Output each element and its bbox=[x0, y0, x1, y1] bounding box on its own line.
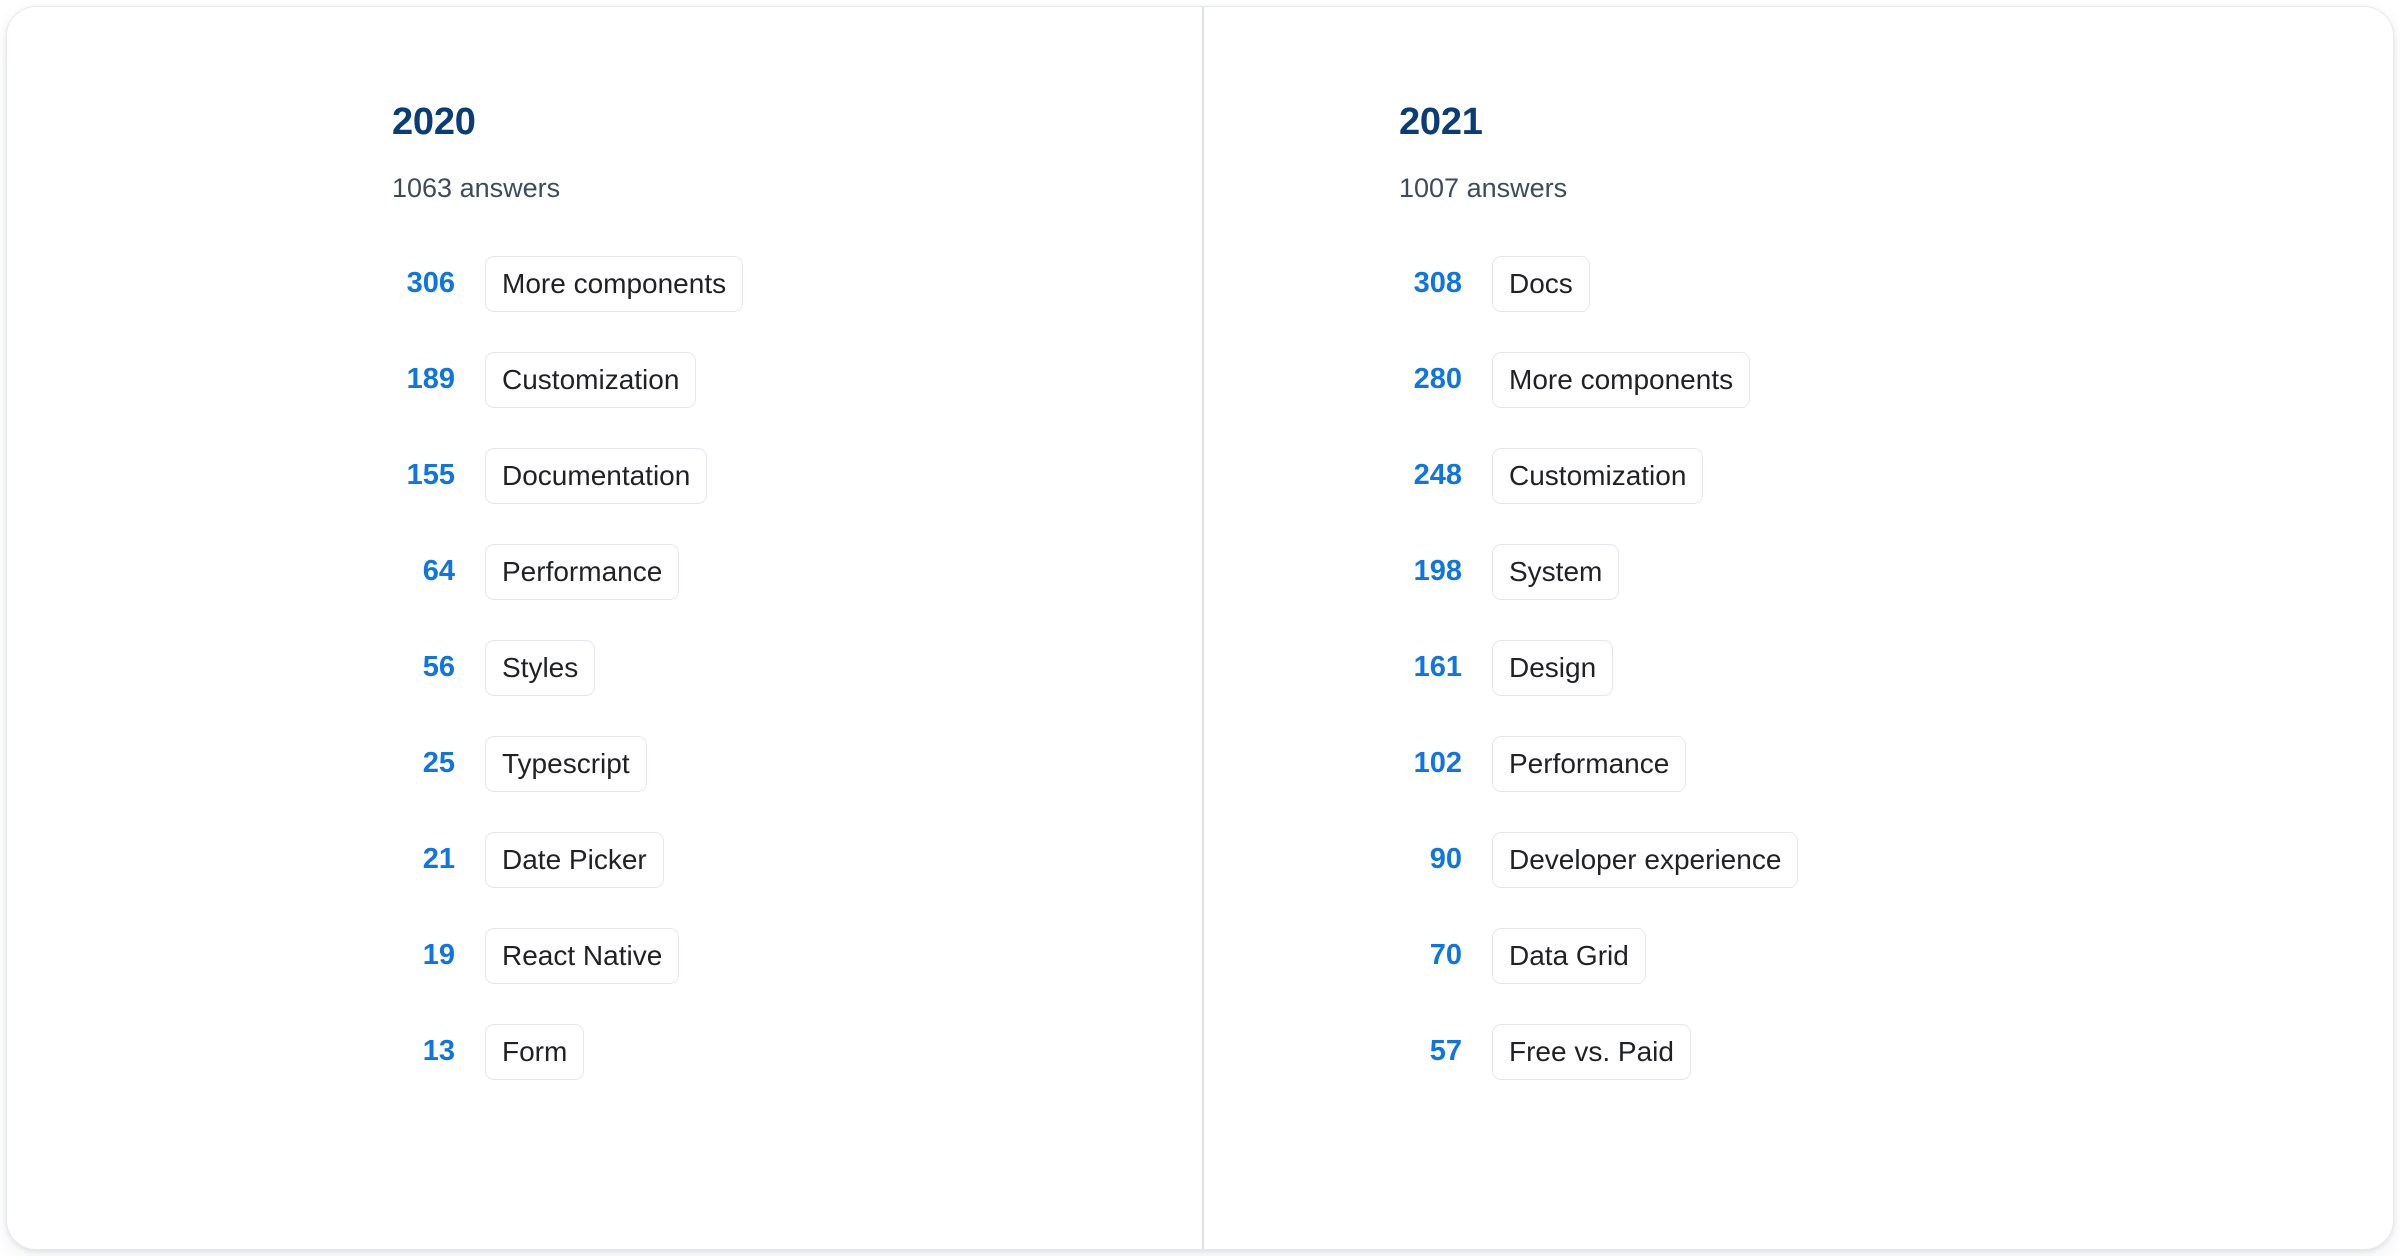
list-item[interactable]: 155 Documentation bbox=[392, 444, 1202, 507]
list-item[interactable]: 198 System bbox=[1399, 540, 2393, 603]
list-item[interactable]: 56 Styles bbox=[392, 636, 1202, 699]
response-chip[interactable]: Customization bbox=[485, 352, 696, 408]
response-count: 280 bbox=[1399, 365, 1462, 394]
comparison-card: 2020 1063 answers 306 More components 18… bbox=[6, 6, 2394, 1250]
response-chip[interactable]: Data Grid bbox=[1492, 928, 1646, 984]
year-heading-2020: 2020 bbox=[392, 103, 1202, 141]
list-item[interactable]: 70 Data Grid bbox=[1399, 924, 2393, 987]
response-count: 57 bbox=[1399, 1037, 1462, 1066]
list-item[interactable]: 90 Developer experience bbox=[1399, 828, 2393, 891]
response-count: 21 bbox=[392, 845, 455, 874]
list-item[interactable]: 306 More components bbox=[392, 252, 1202, 315]
list-item[interactable]: 25 Typescript bbox=[392, 732, 1202, 795]
response-count: 13 bbox=[392, 1037, 455, 1066]
response-count: 161 bbox=[1399, 653, 1462, 682]
answers-count-2020: 1063 answers bbox=[392, 175, 1202, 202]
response-count: 198 bbox=[1399, 557, 1462, 586]
list-item[interactable]: 64 Performance bbox=[392, 540, 1202, 603]
response-chip[interactable]: Date Picker bbox=[485, 832, 664, 888]
response-count: 248 bbox=[1399, 461, 1462, 490]
response-chip[interactable]: Documentation bbox=[485, 448, 707, 504]
response-list-2021: 308 Docs 280 More components 248 Customi… bbox=[1399, 252, 2393, 1083]
list-item[interactable]: 308 Docs bbox=[1399, 252, 2393, 315]
response-count: 102 bbox=[1399, 749, 1462, 778]
list-item[interactable]: 161 Design bbox=[1399, 636, 2393, 699]
response-list-2020: 306 More components 189 Customization 15… bbox=[392, 252, 1202, 1083]
list-item[interactable]: 21 Date Picker bbox=[392, 828, 1202, 891]
list-item[interactable]: 102 Performance bbox=[1399, 732, 2393, 795]
response-chip[interactable]: Form bbox=[485, 1024, 584, 1080]
response-count: 25 bbox=[392, 749, 455, 778]
year-column-2020: 2020 1063 answers 306 More components 18… bbox=[7, 7, 1202, 1249]
response-chip[interactable]: More components bbox=[485, 256, 743, 312]
response-count: 308 bbox=[1399, 269, 1462, 298]
response-chip[interactable]: Typescript bbox=[485, 736, 647, 792]
response-chip[interactable]: Performance bbox=[485, 544, 679, 600]
response-chip[interactable]: Free vs. Paid bbox=[1492, 1024, 1691, 1080]
response-chip[interactable]: Performance bbox=[1492, 736, 1686, 792]
year-column-2021: 2021 1007 answers 308 Docs 280 More comp… bbox=[1204, 7, 2393, 1249]
list-item[interactable]: 280 More components bbox=[1399, 348, 2393, 411]
response-chip[interactable]: System bbox=[1492, 544, 1619, 600]
list-item[interactable]: 248 Customization bbox=[1399, 444, 2393, 507]
response-count: 70 bbox=[1399, 941, 1462, 970]
answers-count-2021: 1007 answers bbox=[1399, 175, 2393, 202]
response-count: 90 bbox=[1399, 845, 1462, 874]
response-count: 56 bbox=[392, 653, 455, 682]
list-item[interactable]: 19 React Native bbox=[392, 924, 1202, 987]
response-chip[interactable]: Developer experience bbox=[1492, 832, 1798, 888]
response-count: 64 bbox=[392, 557, 455, 586]
response-chip[interactable]: Customization bbox=[1492, 448, 1703, 504]
list-item[interactable]: 189 Customization bbox=[392, 348, 1202, 411]
response-chip[interactable]: Styles bbox=[485, 640, 595, 696]
response-chip[interactable]: React Native bbox=[485, 928, 679, 984]
response-chip[interactable]: Docs bbox=[1492, 256, 1590, 312]
response-chip[interactable]: More components bbox=[1492, 352, 1750, 408]
response-count: 19 bbox=[392, 941, 455, 970]
response-chip[interactable]: Design bbox=[1492, 640, 1613, 696]
year-heading-2021: 2021 bbox=[1399, 103, 2393, 141]
list-item[interactable]: 57 Free vs. Paid bbox=[1399, 1020, 2393, 1083]
response-count: 155 bbox=[392, 461, 455, 490]
response-count: 189 bbox=[392, 365, 455, 394]
list-item[interactable]: 13 Form bbox=[392, 1020, 1202, 1083]
response-count: 306 bbox=[392, 269, 455, 298]
